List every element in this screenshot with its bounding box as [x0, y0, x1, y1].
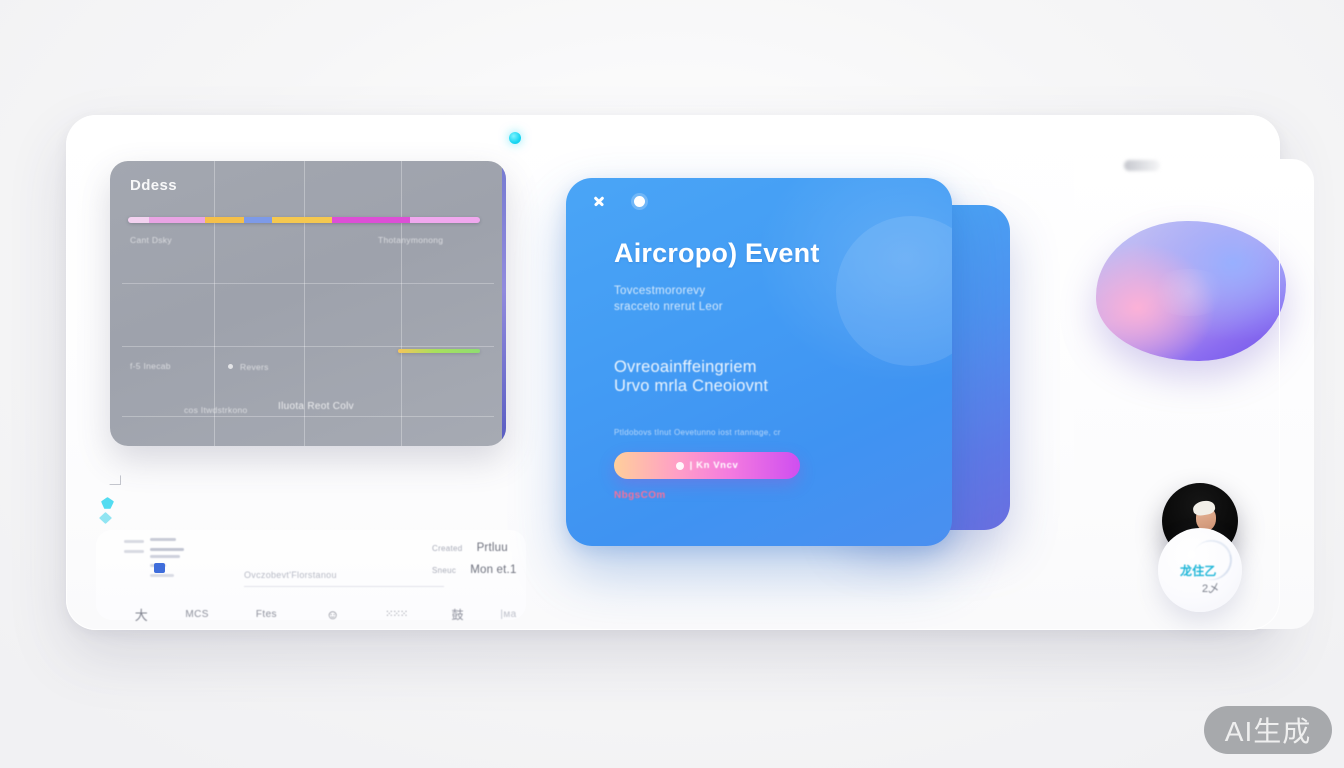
dot-icon[interactable]: [634, 196, 645, 207]
data-label-mid: Revers: [240, 362, 269, 372]
composer-toolbar: 大 MCS Ftes ☺ ⁙⁙⁙ 鼓 |мa: [120, 602, 530, 626]
modal-secondary-heading: Ovreoainffeingriem Urvo mrla Cneoiovnt: [614, 358, 904, 396]
docs-tool-button[interactable]: MCS: [163, 609, 231, 620]
progress-segment-2: [205, 217, 244, 223]
person-icon[interactable]: 大: [120, 605, 163, 624]
grid-row-line: [122, 346, 494, 347]
data-panel[interactable]: Ddess Cant Dsky Thotanymonong f-5 Inecab…: [110, 161, 506, 446]
badge-line-2: 2乄: [1202, 580, 1219, 596]
primary-cta-button[interactable]: | Kn Vncv: [614, 452, 800, 479]
progress-bar[interactable]: [128, 217, 480, 223]
files-tool-button[interactable]: Ftes: [231, 609, 301, 620]
progress-segment-0: [128, 217, 149, 223]
stack-tool-button[interactable]: 鼓: [428, 606, 487, 623]
meta-value: Prtluu: [477, 542, 508, 554]
data-panel-title: Ddess: [130, 177, 177, 194]
airdrop-event-modal[interactable]: Aircropo) Event Tovcestmororevy sracceto…: [566, 178, 952, 546]
progress-segment-4: [272, 217, 332, 223]
ai-generated-watermark: AI生成: [1204, 706, 1332, 754]
modal-title: Aircropo) Event: [614, 238, 820, 269]
modal-icon-bar: [592, 194, 645, 208]
circular-badge[interactable]: 龙住乙 2乄: [1158, 528, 1242, 612]
data-label-left-top: Cant Dsky: [130, 235, 172, 245]
data-label-center-bottom: Iluota Reot Colv: [278, 401, 354, 412]
grid-column-line: [214, 161, 215, 446]
grid-tool-button[interactable]: ⁙⁙⁙: [364, 609, 428, 620]
emoji-icon[interactable]: ☺: [302, 607, 364, 622]
progress-segment-5: [332, 217, 409, 223]
grid-row-line: [122, 283, 494, 284]
screen-root: Ddess Cant Dsky Thotanymonong f-5 Inecab…: [0, 0, 1344, 768]
data-label-left-mid: f-5 Inecab: [130, 361, 171, 371]
more-tool-button[interactable]: |мa: [487, 609, 530, 620]
secondary-link[interactable]: NbgsCOm: [614, 490, 666, 501]
composer-chip-icon: [154, 563, 165, 573]
modal-note: Ptldobovs tInut Oevetunno iost rtannage,…: [614, 428, 904, 437]
data-label-right-top: Thotanymonong: [378, 235, 443, 245]
close-icon[interactable]: [592, 194, 606, 208]
grid-row-line: [122, 416, 494, 417]
composer-meta: Created Prtluu Sneuc Mon et.1: [432, 542, 582, 586]
grid-column-line: [401, 161, 402, 446]
meta-row: Created Prtluu: [432, 542, 582, 554]
data-label-left-bottom: cos Itwdstrkono: [184, 405, 248, 415]
progress-segment-6: [410, 217, 480, 223]
composer-thumbnail: [124, 538, 192, 580]
meta-value: Mon et.1: [470, 564, 516, 576]
composer-input[interactable]: Ovczobevt'Florstanou: [244, 570, 444, 587]
mini-progress-bar: [398, 349, 480, 353]
panel-edge-accent: [502, 161, 506, 446]
cta-dot-icon: [676, 462, 684, 470]
bullet-dot-icon: [228, 364, 233, 369]
progress-segment-3: [244, 217, 272, 223]
progress-segment-1: [149, 217, 205, 223]
meta-key: Created: [432, 544, 463, 553]
cta-label: | Kn Vncv: [690, 460, 739, 471]
badge-line-1: 龙住乙: [1180, 562, 1217, 579]
meta-key: Sneuc: [432, 566, 456, 575]
meta-row: Sneuc Mon et.1: [432, 564, 582, 576]
composer-strip: Ovczobevt'Florstanou Created Prtluu Sneu…: [96, 530, 526, 620]
gradient-blob-icon: [1096, 221, 1286, 361]
modal-subtitle: Tovcestmororevy sracceto nrerut Leor: [614, 283, 884, 315]
